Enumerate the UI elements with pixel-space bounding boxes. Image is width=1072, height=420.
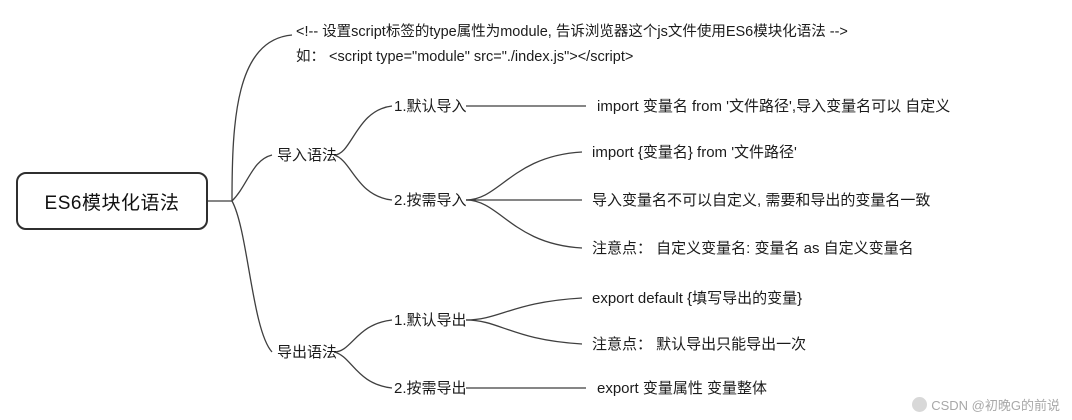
leaf-named-export-1: export 变量属性 变量整体 [597, 378, 767, 400]
leaf-default-export-1: export default {填写导出的变量} [592, 288, 802, 310]
leaf-named-import-2: 导入变量名不可以自定义, 需要和导出的变量名一致 [592, 190, 930, 212]
leaf-default-import-1: import 变量名 from '文件路径',导入变量名可以 自定义 [597, 96, 950, 118]
connector-root-import [232, 155, 272, 201]
connector-export-named [334, 352, 392, 388]
watermark-text: CSDN @初晚G的前说 [931, 395, 1060, 414]
comment-block: <!-- 设置script标签的type属性为module, 告诉浏览器这个js… [296, 20, 848, 71]
connector-export-default [334, 320, 392, 352]
connector-root-export [232, 201, 272, 352]
subbranch-label-default-import[interactable]: 1.默认导入 [394, 96, 467, 118]
connector-import-default [334, 106, 392, 155]
connector-named-leaf1 [466, 152, 582, 200]
connector-exportdefault-leaf2 [466, 320, 582, 344]
connector-import-named [334, 155, 392, 200]
branch-label-import[interactable]: 导入语法 [277, 145, 337, 167]
root-node[interactable]: ES6模块化语法 [16, 172, 208, 230]
subbranch-label-default-export[interactable]: 1.默认导出 [394, 310, 467, 332]
leaf-named-import-1: import {变量名} from '文件路径' [592, 142, 797, 164]
connector-root-comment [232, 35, 292, 201]
comment-line-1: <!-- 设置script标签的type属性为module, 告诉浏览器这个js… [296, 20, 848, 45]
avatar-icon [912, 397, 927, 412]
leaf-named-import-3: 注意点： 自定义变量名: 变量名 as 自定义变量名 [592, 238, 914, 260]
subbranch-label-named-export[interactable]: 2.按需导出 [394, 378, 467, 400]
subbranch-label-named-import[interactable]: 2.按需导入 [394, 190, 467, 212]
leaf-default-export-2: 注意点： 默认导出只能导出一次 [592, 334, 806, 356]
connector-named-leaf3 [466, 200, 582, 248]
comment-line-2: 如： <script type="module" src="./index.js… [296, 45, 848, 70]
branch-label-export[interactable]: 导出语法 [277, 342, 337, 364]
watermark: CSDN @初晚G的前说 [912, 395, 1060, 414]
root-node-label: ES6模块化语法 [45, 188, 180, 215]
connector-exportdefault-leaf1 [466, 298, 582, 320]
